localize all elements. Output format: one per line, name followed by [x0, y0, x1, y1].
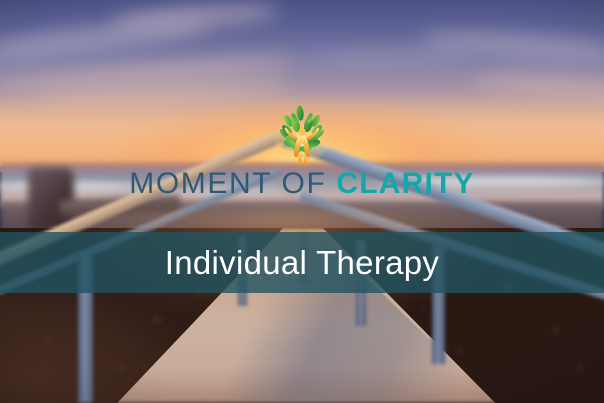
hero-banner: MOMENT OF CLARITY Individual Therapy	[0, 0, 604, 403]
wordmark-moment-of: MOMENT OF	[129, 167, 336, 200]
page-title: Individual Therapy	[165, 246, 439, 279]
wordmark-clarity: CLARITY	[336, 167, 474, 200]
title-banner: Individual Therapy	[0, 232, 604, 293]
tree-of-life-logo-icon	[270, 101, 334, 167]
brand-logo: MOMENT OF CLARITY	[0, 101, 604, 199]
brand-wordmark: MOMENT OF CLARITY	[0, 169, 604, 199]
background-photo	[0, 0, 604, 403]
